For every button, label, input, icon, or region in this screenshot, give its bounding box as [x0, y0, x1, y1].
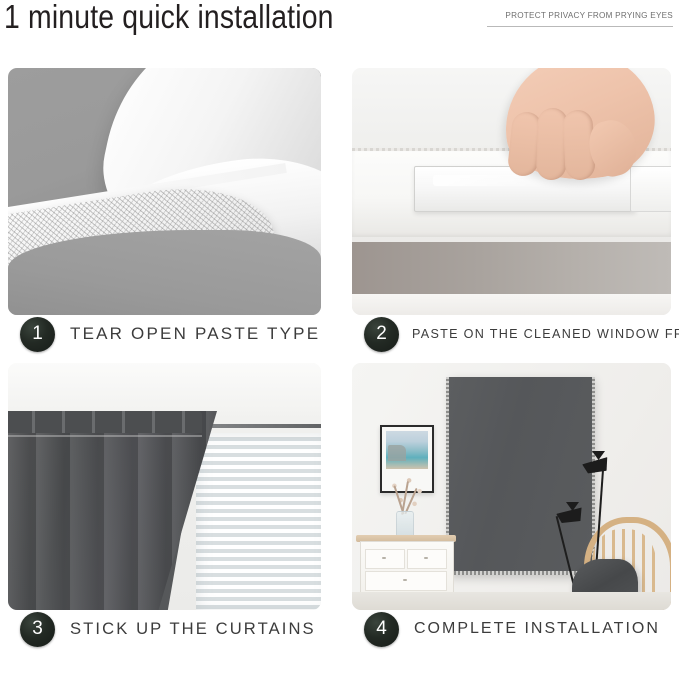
page-title: 1 minute quick installation — [4, 0, 334, 36]
step-1-caption-row: 1 TEAR OPEN PASTE TYPE — [8, 311, 321, 357]
drawer-knob-shape — [382, 557, 386, 559]
step-caption-3: STICK UP THE CURTAINS — [70, 619, 316, 639]
step-card-4: 4 COMPLETE INSTALLATION — [352, 363, 671, 653]
step-caption-4: COMPLETE INSTALLATION — [414, 620, 660, 638]
tagline-text: PROTECT PRIVACY FROM PRYING EYES — [496, 10, 673, 20]
step-card-1: 1 TEAR OPEN PASTE TYPE — [8, 68, 321, 358]
step-3-photo — [8, 363, 321, 610]
tagline-divider — [487, 26, 673, 27]
venetian-blinds-shape — [196, 433, 321, 610]
step-card-2: 2 PASTE ON THE CLEANED WINDOW FRAME — [352, 68, 671, 358]
step-card-3: 3 STICK UP THE CURTAINS — [8, 363, 321, 653]
installed-blackout-blind-shape — [448, 377, 593, 575]
step-caption-1: TEAR OPEN PASTE TYPE — [70, 324, 320, 344]
step-caption-2: PASTE ON THE CLEANED WINDOW FRAME — [412, 327, 679, 341]
step-4-caption-row: 4 COMPLETE INSTALLATION — [352, 606, 671, 652]
lower-surface-shape — [8, 230, 321, 315]
adhesive-strip-secondary-shape — [630, 166, 671, 212]
step-2-photo — [352, 68, 671, 315]
drawer-shape — [365, 549, 405, 569]
step-1-photo — [8, 68, 321, 315]
step-number-badge-1: 1 — [20, 317, 55, 352]
step-number-badge-4: 4 — [364, 612, 399, 647]
tagline-block: PROTECT PRIVACY FROM PRYING EYES — [487, 10, 673, 27]
drawer-shape — [365, 571, 447, 591]
ceiling-shape — [8, 363, 321, 415]
step-number-badge-3: 3 — [20, 612, 55, 647]
drawer-knob-shape — [424, 557, 428, 559]
drawer-knob-shape — [403, 579, 407, 581]
installation-steps-grid: 1 TEAR OPEN PASTE TYPE 2 PASTE ON THE CL… — [0, 56, 679, 684]
step-2-caption-row: 2 PASTE ON THE CLEANED WINDOW FRAME — [352, 311, 671, 357]
curtain-hem-shape — [8, 435, 202, 437]
page-header: 1 minute quick installation PROTECT PRIV… — [0, 0, 679, 56]
artwork-image-shape — [386, 431, 428, 469]
step-3-caption-row: 3 STICK UP THE CURTAINS — [8, 606, 321, 652]
step-4-photo — [352, 363, 671, 610]
step-number-badge-2: 2 — [364, 317, 399, 352]
curtain-panel-shape — [8, 411, 217, 610]
window-glass-shape — [352, 242, 671, 294]
curtain-pleats-shape — [8, 411, 202, 433]
drawer-shape — [407, 549, 447, 569]
